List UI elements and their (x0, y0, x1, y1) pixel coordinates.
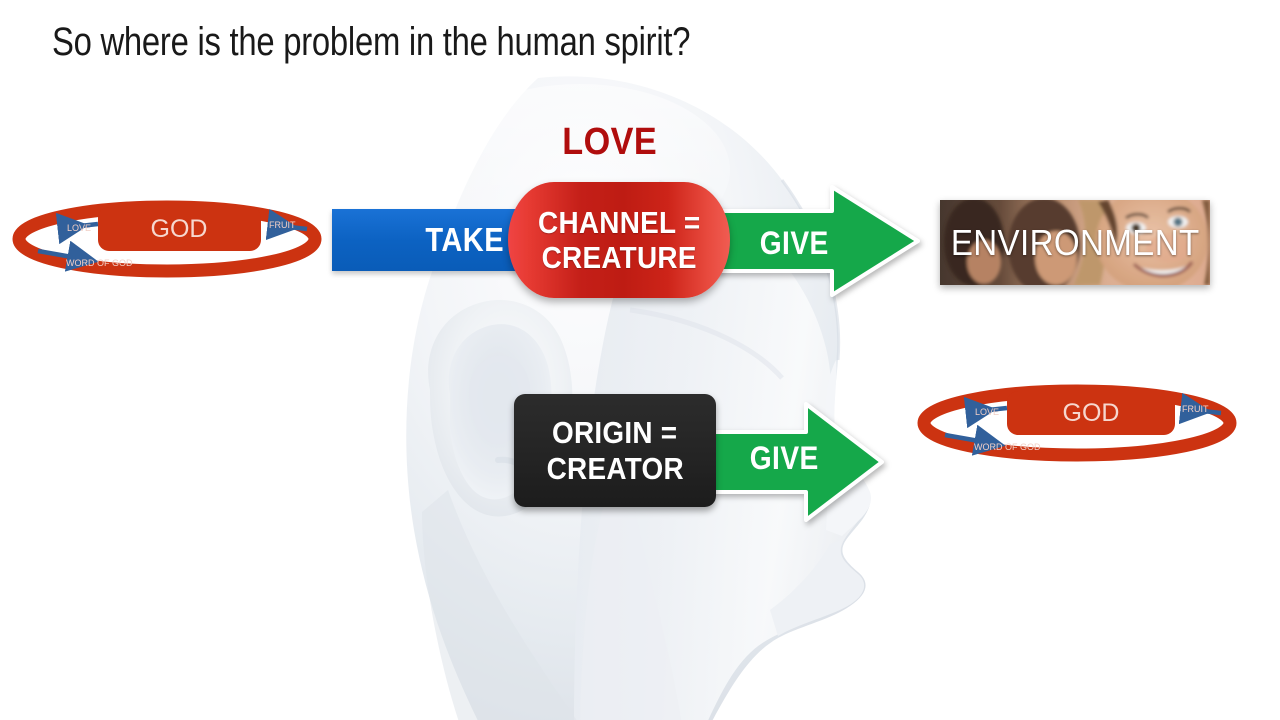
environment-photo-card[interactable]: ENVIRONMENT (940, 200, 1210, 285)
origin-creator-box[interactable]: ORIGIN = CREATOR (514, 394, 716, 507)
environment-label: ENVIRONMENT (940, 222, 1210, 264)
god-loop-left-label-word: WORD OF GOD (66, 258, 133, 268)
god-loop-left-center-label: GOD (151, 215, 208, 243)
god-loop-left: GOD LOVE FRUIT WORD OF GOD (10, 198, 325, 280)
origin-line-1: ORIGIN = (552, 417, 677, 448)
channel-creature-cylinder[interactable]: CHANNEL = CREATURE (508, 182, 730, 298)
god-loop-right-label-word: WORD OF GOD (974, 442, 1041, 452)
slide-canvas: So where is the problem in the human spi… (0, 0, 1280, 720)
god-loop-left-label-fruit: FRUIT (269, 220, 296, 230)
god-loop-right-center-label: GOD (1063, 399, 1120, 427)
god-loop-right: GOD LOVE FRUIT WORD OF GOD (915, 382, 1240, 464)
take-label: TAKE (425, 221, 504, 259)
channel-line-2: CREATURE (541, 242, 696, 273)
page-title: So where is the problem in the human spi… (52, 20, 690, 65)
god-loop-right-label-love: LOVE (975, 407, 999, 417)
god-loop-left-label-love: LOVE (67, 223, 91, 233)
god-loop-right-label-fruit: FRUIT (1182, 404, 1209, 414)
channel-line-1: CHANNEL = (538, 207, 700, 238)
origin-line-2: CREATOR (546, 453, 683, 484)
love-label: LOVE (562, 121, 657, 164)
